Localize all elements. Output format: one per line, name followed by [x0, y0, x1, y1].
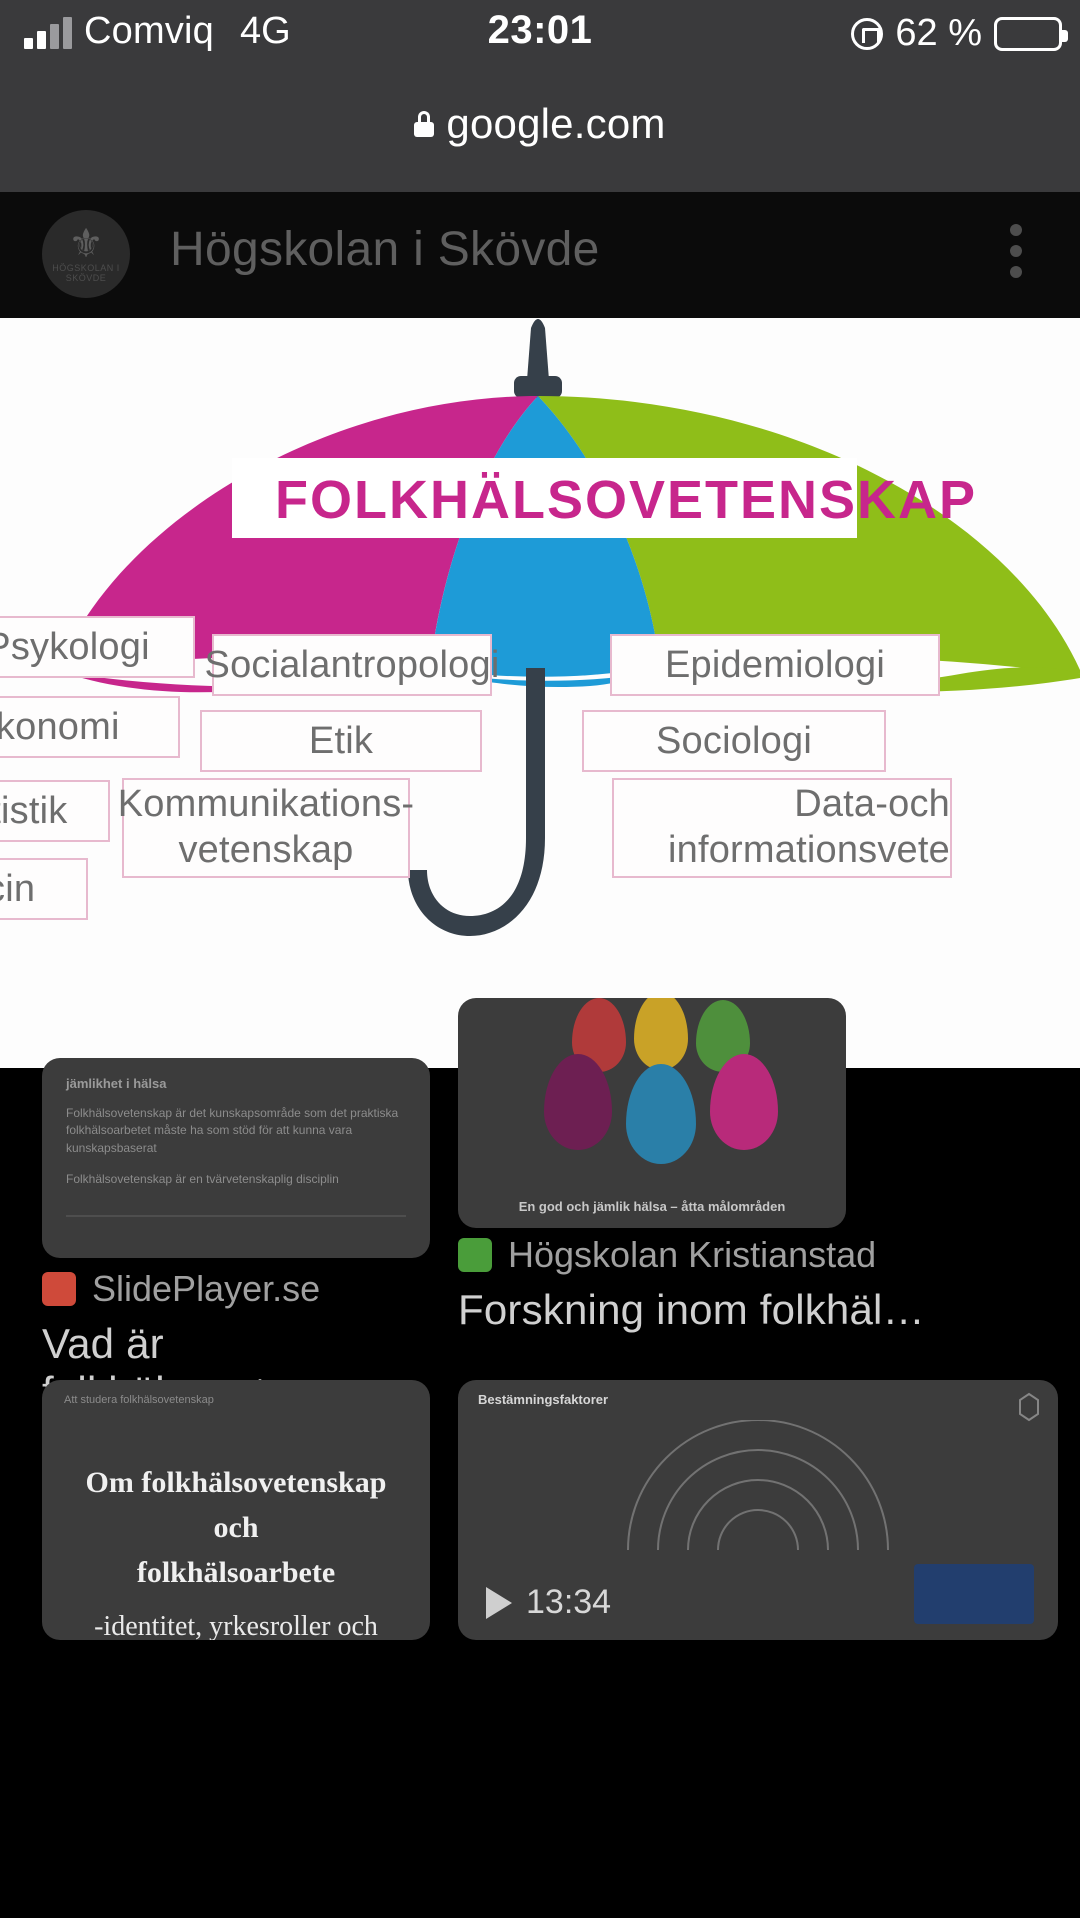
discipline-label: Sociologi: [656, 720, 812, 763]
slide-paragraph: Folkhälsovetenskap är det kunskapsområde…: [66, 1105, 406, 1157]
rotation-lock-icon: [851, 18, 883, 50]
discipline-label-line2: informationsvete: [668, 828, 950, 874]
discipline-label: Etik: [309, 720, 373, 763]
slide-serif-line1: Om folkhälsovetenskap och: [64, 1460, 408, 1550]
url-bar-inner[interactable]: google.com: [414, 100, 665, 148]
discipline-box-etik: Etik: [200, 710, 482, 772]
slide-serif-line2: folkhälsoarbete: [64, 1550, 408, 1595]
slide-heading: jämlikhet i hälsa: [66, 1076, 406, 1091]
status-bar-right: 62 %: [851, 12, 1062, 55]
discipline-box-epidemiologi: Epidemiologi: [610, 634, 940, 696]
result-meta-2[interactable]: Högskolan Kristianstad Forskning inom fo…: [458, 1234, 1058, 1334]
status-bar: Comviq 4G 23:01 62 %: [0, 0, 1080, 96]
favicon-icon: [458, 1238, 492, 1272]
video-play-badge[interactable]: 13:34: [486, 1583, 611, 1622]
result-source-1: SlidePlayer.se: [42, 1268, 462, 1310]
lock-icon: [414, 111, 434, 137]
discipline-label: Socialantropologi: [205, 644, 500, 687]
discipline-label: Psykologi: [0, 626, 150, 669]
slide-content-4: Bestämningsfaktorer: [458, 1380, 1058, 1419]
discipline-box-datavetenskap: Data-och informationsvete: [612, 778, 952, 878]
discipline-label-line1: Kommunikations-: [118, 782, 415, 828]
favicon-icon: [42, 1272, 76, 1306]
discipline-box-medicin: Medicin: [0, 858, 88, 920]
discipline-label: Epidemiologi: [665, 644, 885, 687]
battery-percent: 62 %: [895, 12, 982, 55]
crest-label: HÖGSKOLAN I SKÖVDE: [42, 263, 130, 283]
page-header: ⚜ HÖGSKOLAN I SKÖVDE Högskolan i Skövde: [0, 192, 1080, 318]
slide-content-1: jämlikhet i hälsa Folkhälsovetenskap är …: [42, 1058, 430, 1235]
discipline-label: Medicin: [0, 868, 35, 911]
hero-image-card[interactable]: FOLKHÄLSOVETENSKAP Psykologi Ekonomi Sta…: [0, 318, 1080, 1068]
discipline-box-statistik: Statistik: [0, 780, 110, 842]
slide-content-3: Att studera folkhälsovetenskap Om folkhä…: [42, 1380, 430, 1640]
crest-icon: ⚜: [68, 225, 104, 263]
discipline-box-socialantropologi: Socialantropologi: [212, 634, 492, 696]
result-thumbnail-4[interactable]: Bestämningsfaktorer 13:34: [458, 1380, 1058, 1640]
discipline-label: Statistik: [0, 790, 67, 833]
battery-icon: [994, 17, 1062, 51]
petal-diagram: En god och jämlik hälsa – åtta målområde…: [458, 998, 846, 1228]
discipline-box-ekonomi: Ekonomi: [0, 696, 180, 758]
result-source-2: Högskolan Kristianstad: [458, 1234, 1058, 1276]
result-thumbnail-2[interactable]: En god och jämlik hälsa – åtta målområde…: [458, 998, 846, 1228]
result-thumbnail-3[interactable]: Att studera folkhälsovetenskap Om folkhä…: [42, 1380, 430, 1640]
result-thumbnail-1[interactable]: jämlikhet i hälsa Folkhälsovetenskap är …: [42, 1058, 430, 1258]
result-source-name: SlidePlayer.se: [92, 1268, 320, 1310]
discipline-label: Ekonomi: [0, 706, 120, 749]
arc-diagram: [608, 1420, 908, 1560]
kebab-menu-icon[interactable]: [1010, 224, 1022, 278]
play-icon: [486, 1587, 512, 1619]
slide-small-heading: Bestämningsfaktorer: [478, 1392, 1038, 1407]
slide-paragraph: Folkhälsovetenskap är en tvärvetenskapli…: [66, 1171, 406, 1188]
discipline-box-sociologi: Sociologi: [582, 710, 886, 772]
url-bar[interactable]: google.com: [0, 96, 1080, 192]
url-text: google.com: [446, 100, 665, 148]
watermark-icon: [1016, 1392, 1042, 1422]
slide-small-heading: Att studera folkhälsovetenskap: [64, 1394, 408, 1406]
slide-divider: [66, 1215, 406, 1217]
discipline-label-line1: Data-och: [794, 782, 950, 828]
slide-serif-line3: -identitet, yrkesroller och exempel: [64, 1611, 408, 1640]
site-logo[interactable]: ⚜ HÖGSKOLAN I SKÖVDE: [42, 210, 130, 298]
page-title: Högskolan i Skövde: [170, 222, 600, 277]
discipline-box-kommunikationsvetenskap: Kommunikations- vetenskap: [122, 778, 410, 878]
result-source-name: Högskolan Kristianstad: [508, 1234, 876, 1276]
results-grid: jämlikhet i hälsa Folkhälsovetenskap är …: [0, 1068, 1080, 1918]
petal-caption: En god och jämlik hälsa – åtta målområde…: [458, 1199, 846, 1214]
discipline-box-psykologi: Psykologi: [0, 616, 195, 678]
video-duration: 13:34: [526, 1583, 611, 1622]
discipline-label-line2: vetenskap: [178, 828, 353, 874]
result-title-2[interactable]: Forskning inom folkhäl…: [458, 1286, 1058, 1334]
logo-block: [914, 1564, 1034, 1624]
hero-image-title: FOLKHÄLSOVETENSKAP: [275, 470, 977, 530]
